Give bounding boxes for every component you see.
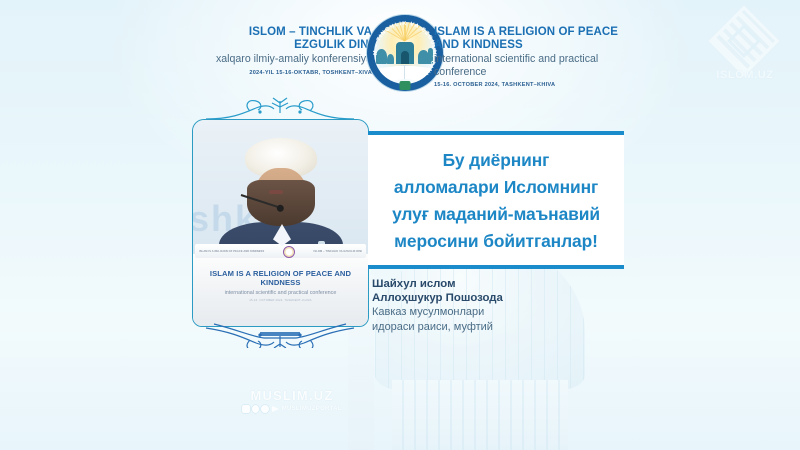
speaker-name-line2: Аллоҳшукур Пошозода (372, 292, 622, 306)
podium-date: 15-16. OCTOBER 2024, TASHKENT–KHIVA (193, 298, 368, 302)
ornament-bottom-icon (204, 322, 356, 348)
header-uzbek-block: ISLOM – TINCHLIK VA EZGULIK DINI xalqaro… (196, 26, 372, 76)
speaker-role-line2: идораси раиси, муфтий (372, 321, 622, 335)
speaker-mouth (269, 190, 283, 194)
speaker-name-line1: Шайхул ислом (372, 278, 622, 292)
header-uzbek-date: 2024-YIL 15-16-OKTABR, TOSHKENT–XIVA (196, 70, 372, 76)
podium-seal-icon (283, 246, 295, 258)
podium-banner: ISLAM IS A RELIGION OF PEACE AND KINDNES… (193, 270, 368, 302)
emblem-ring-text: ISLOM - TINCHLIK VA EZGULIK DINI (367, 15, 443, 91)
youtube-icon (252, 405, 260, 413)
muslim-uz-handle: MUSLIMUZPORTAL (282, 406, 342, 412)
podium-title: ISLAM IS A RELIGION OF PEACE AND KINDNES… (193, 270, 368, 288)
quote-text: Бу диёрнинг алломалари Исломнинг улуғ ма… (374, 147, 618, 255)
speaker-beard (247, 180, 315, 226)
telegram-icon (272, 406, 279, 412)
conference-emblem-icon: ISLOM - TINCHLIK VA EZGULIK DINI (367, 15, 443, 91)
quote-line: меросини бойитганлар! (374, 228, 618, 255)
quote-line: алломалари Исломнинг (374, 174, 618, 201)
svg-text:ISLOM - TINCHLIK VA EZGULIK DI: ISLOM - TINCHLIK VA EZGULIK DINI (367, 15, 437, 76)
quote-box: Бу диёрнинг алломалари Исломнинг улуғ ма… (368, 131, 624, 269)
podium-upper-strip: ISLAM IS A RELIGION OF PEACE AND KINDNES… (199, 246, 362, 257)
social-icons-row: MUSLIMUZPORTAL (236, 405, 348, 413)
header-uzbek-title: ISLOM – TINCHLIK VA EZGULIK DINI (196, 26, 372, 51)
podium-subtitle: international scientific and practical c… (193, 290, 368, 296)
conference-header: ISLOM – TINCHLIK VA EZGULIK DINI xalqaro… (0, 8, 800, 100)
islom-uz-watermark: ISLOM.UZ (708, 14, 782, 88)
poster-canvas: ISLOM – TINCHLIK VA EZGULIK DINI xalqaro… (0, 0, 800, 450)
quote-line: Бу диёрнинг (374, 147, 618, 174)
header-uzbek-subtitle: xalqaro ilmiy-amaliy konferensiya (196, 53, 372, 65)
muslim-uz-logo: MUSLIM.UZ MUSLIMUZPORTAL (236, 388, 348, 413)
islom-uz-brand-text: ISLOM.UZ (708, 69, 782, 81)
attribution-block: Шайхул ислом Аллоҳшукур Пошозода Кавказ … (372, 278, 622, 334)
header-english-block: ISLAM IS A RELIGION OF PEACE AND KINDNES… (434, 26, 624, 88)
instagram-icon (242, 405, 250, 413)
quote-line: улуғ маданий-маънавий (374, 201, 618, 228)
header-english-subtitle: international scientific and practical c… (434, 53, 624, 78)
speaker-role-line1: Кавказ мусулмонлари (372, 306, 622, 320)
header-english-date: 15-16. OCTOBER 2024, TASHKENT–KHIVA (434, 82, 624, 88)
muslim-uz-title: MUSLIM.UZ (236, 388, 348, 403)
podium: ISLAM IS A RELIGION OF PEACE AND KINDNES… (193, 253, 368, 326)
podium-left-label: ISLAM IS A RELIGION OF PEACE AND KINDNES… (199, 250, 264, 253)
podium-right-label: ISLOM – TINCHLIK VA EZGULIK DINI (314, 250, 362, 253)
emblem-badge-icon (400, 81, 411, 90)
speaker-photo: shk ISLAM IS A RELIGION OF PEACE AND KIN… (192, 119, 369, 327)
facebook-icon (261, 405, 269, 413)
islom-uz-diamond-logo-icon (709, 6, 780, 77)
header-english-title: ISLAM IS A RELIGION OF PEACE AND KINDNES… (434, 26, 624, 51)
dome-drum-arches (392, 380, 568, 450)
ornament-top-icon (204, 95, 356, 121)
